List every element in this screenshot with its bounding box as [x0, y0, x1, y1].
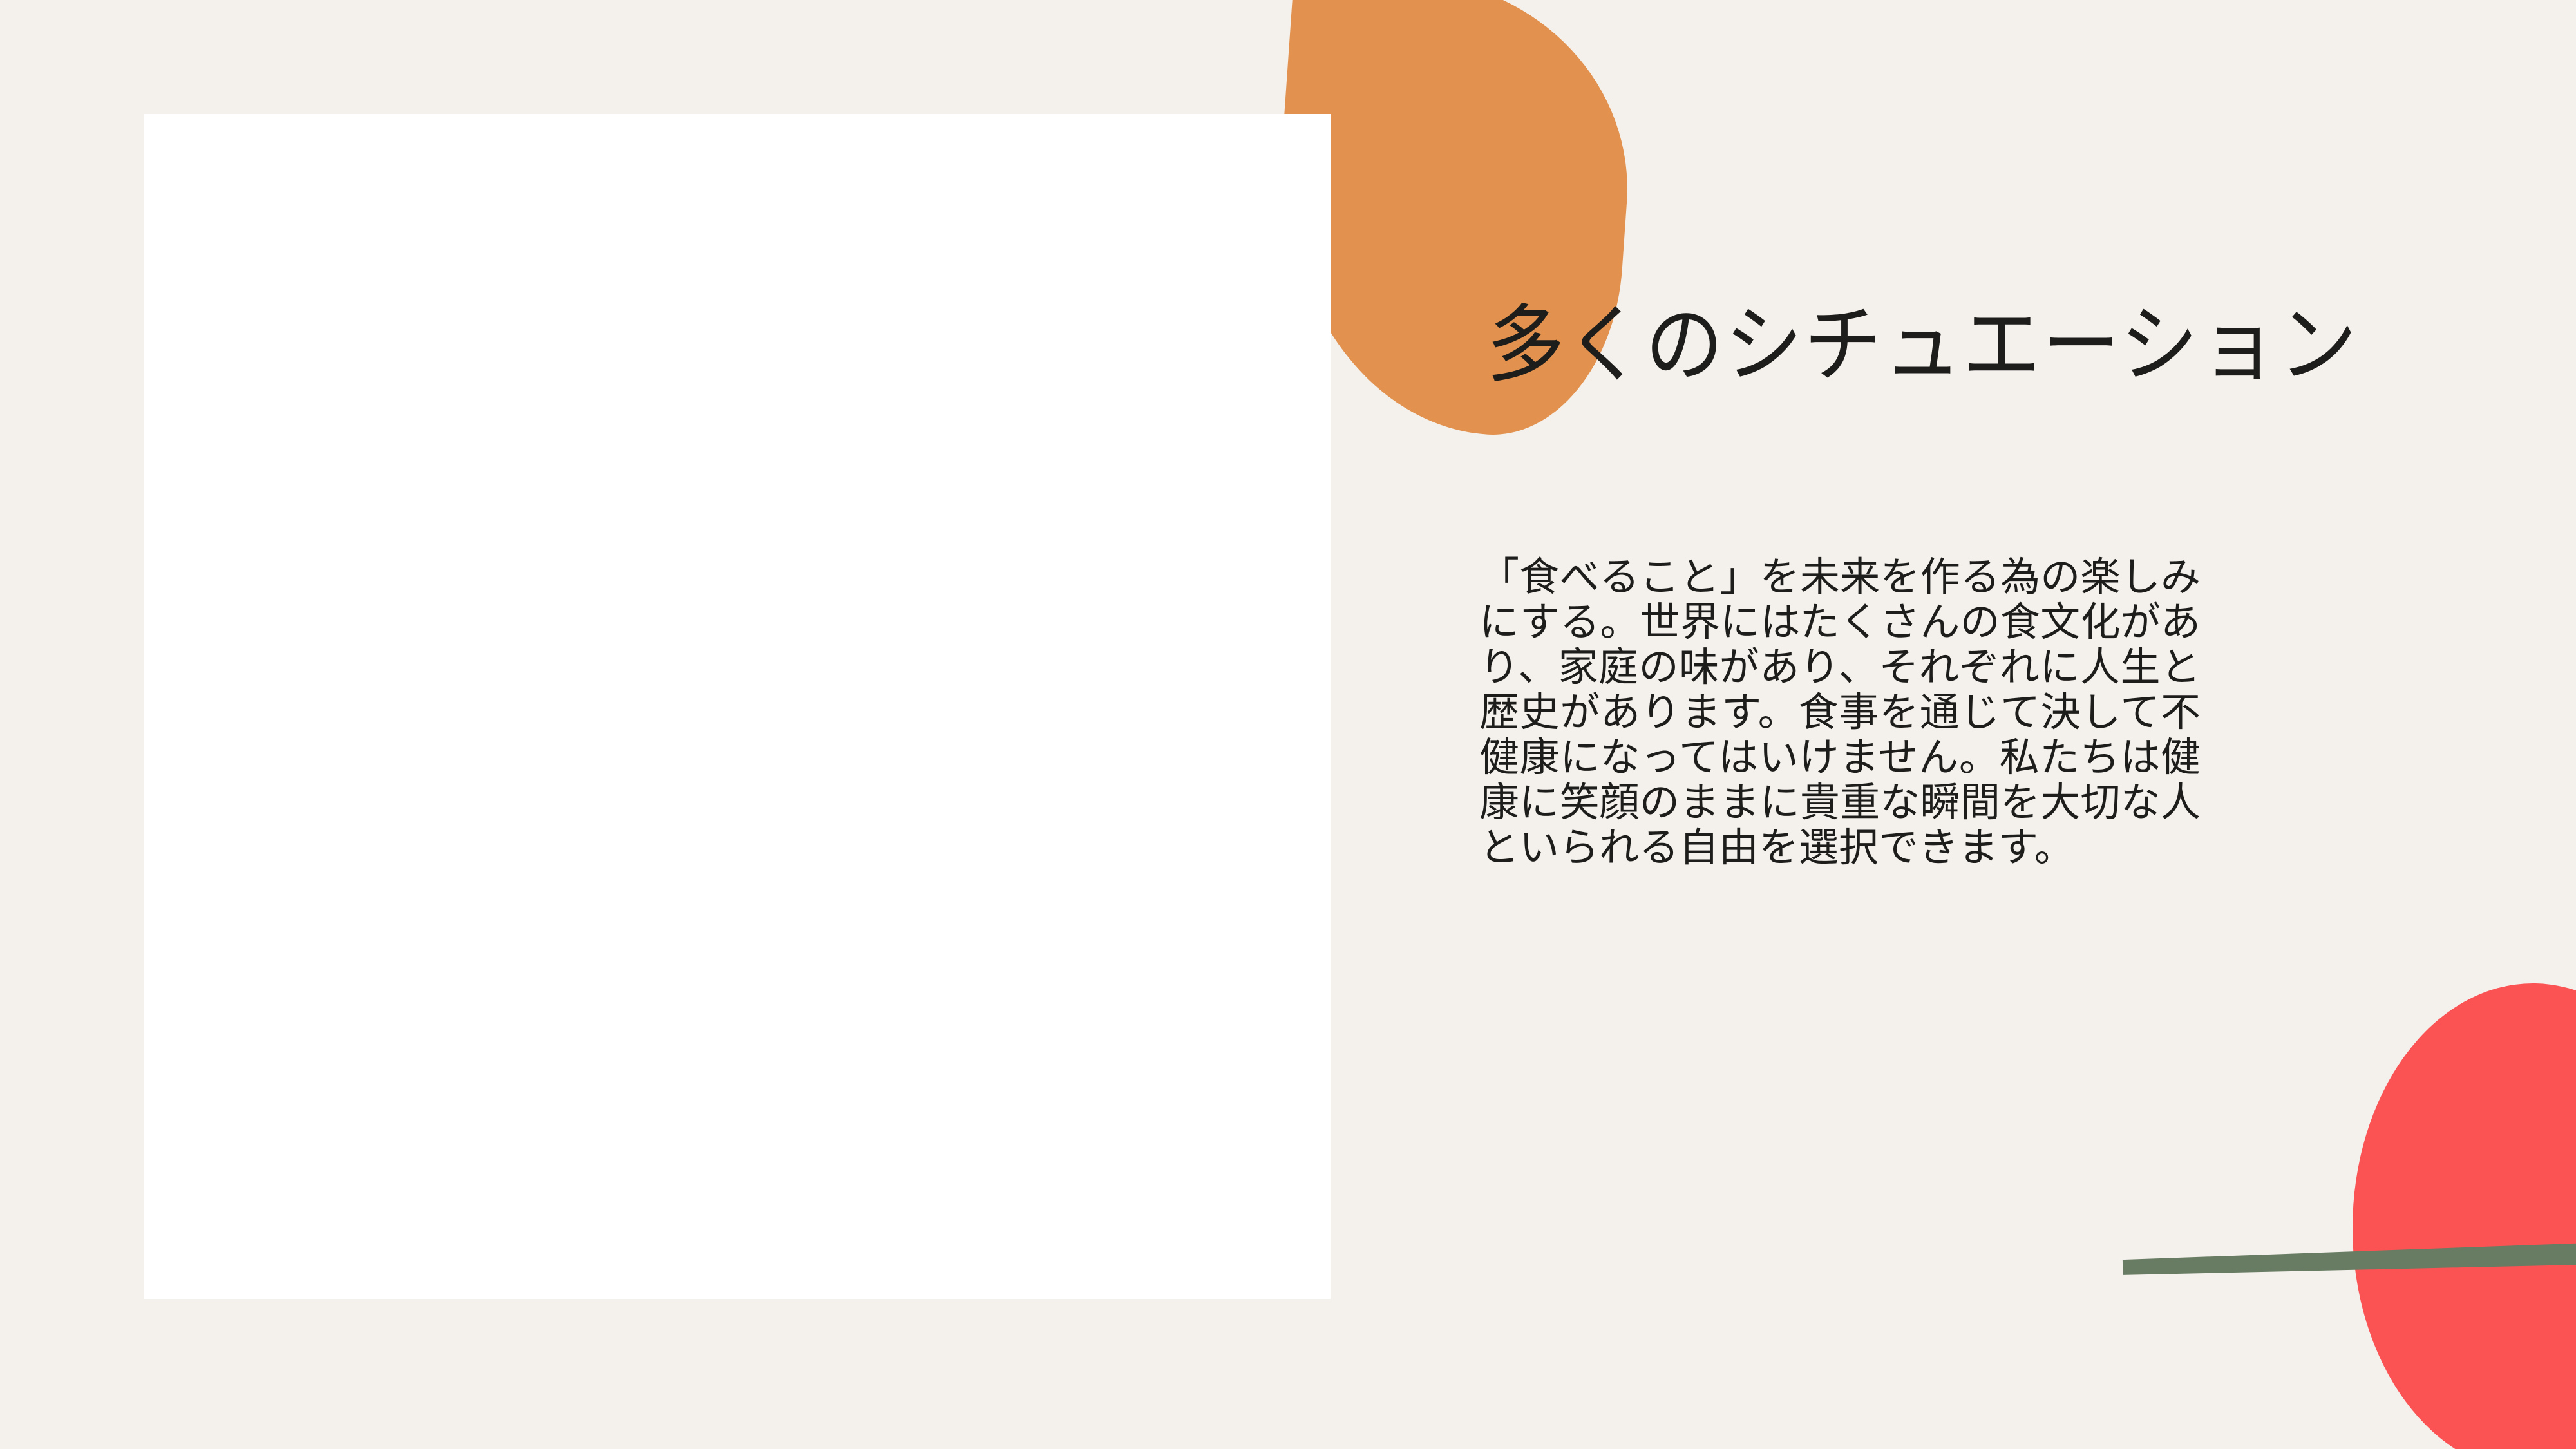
red-circle-shape-icon — [2353, 983, 2576, 1449]
body-paragraph: 「食べること」を未来を作る為の楽しみにする。世界にはたくさんの食文化があり、家庭… — [1479, 555, 2201, 871]
page-title: 多くのシチュエーション — [1486, 303, 2358, 388]
slide-canvas: ALLA SPAGHETTI ALLA CARBONARA Bon appeti… — [0, 0, 2576, 1449]
content-card — [144, 114, 1331, 1299]
